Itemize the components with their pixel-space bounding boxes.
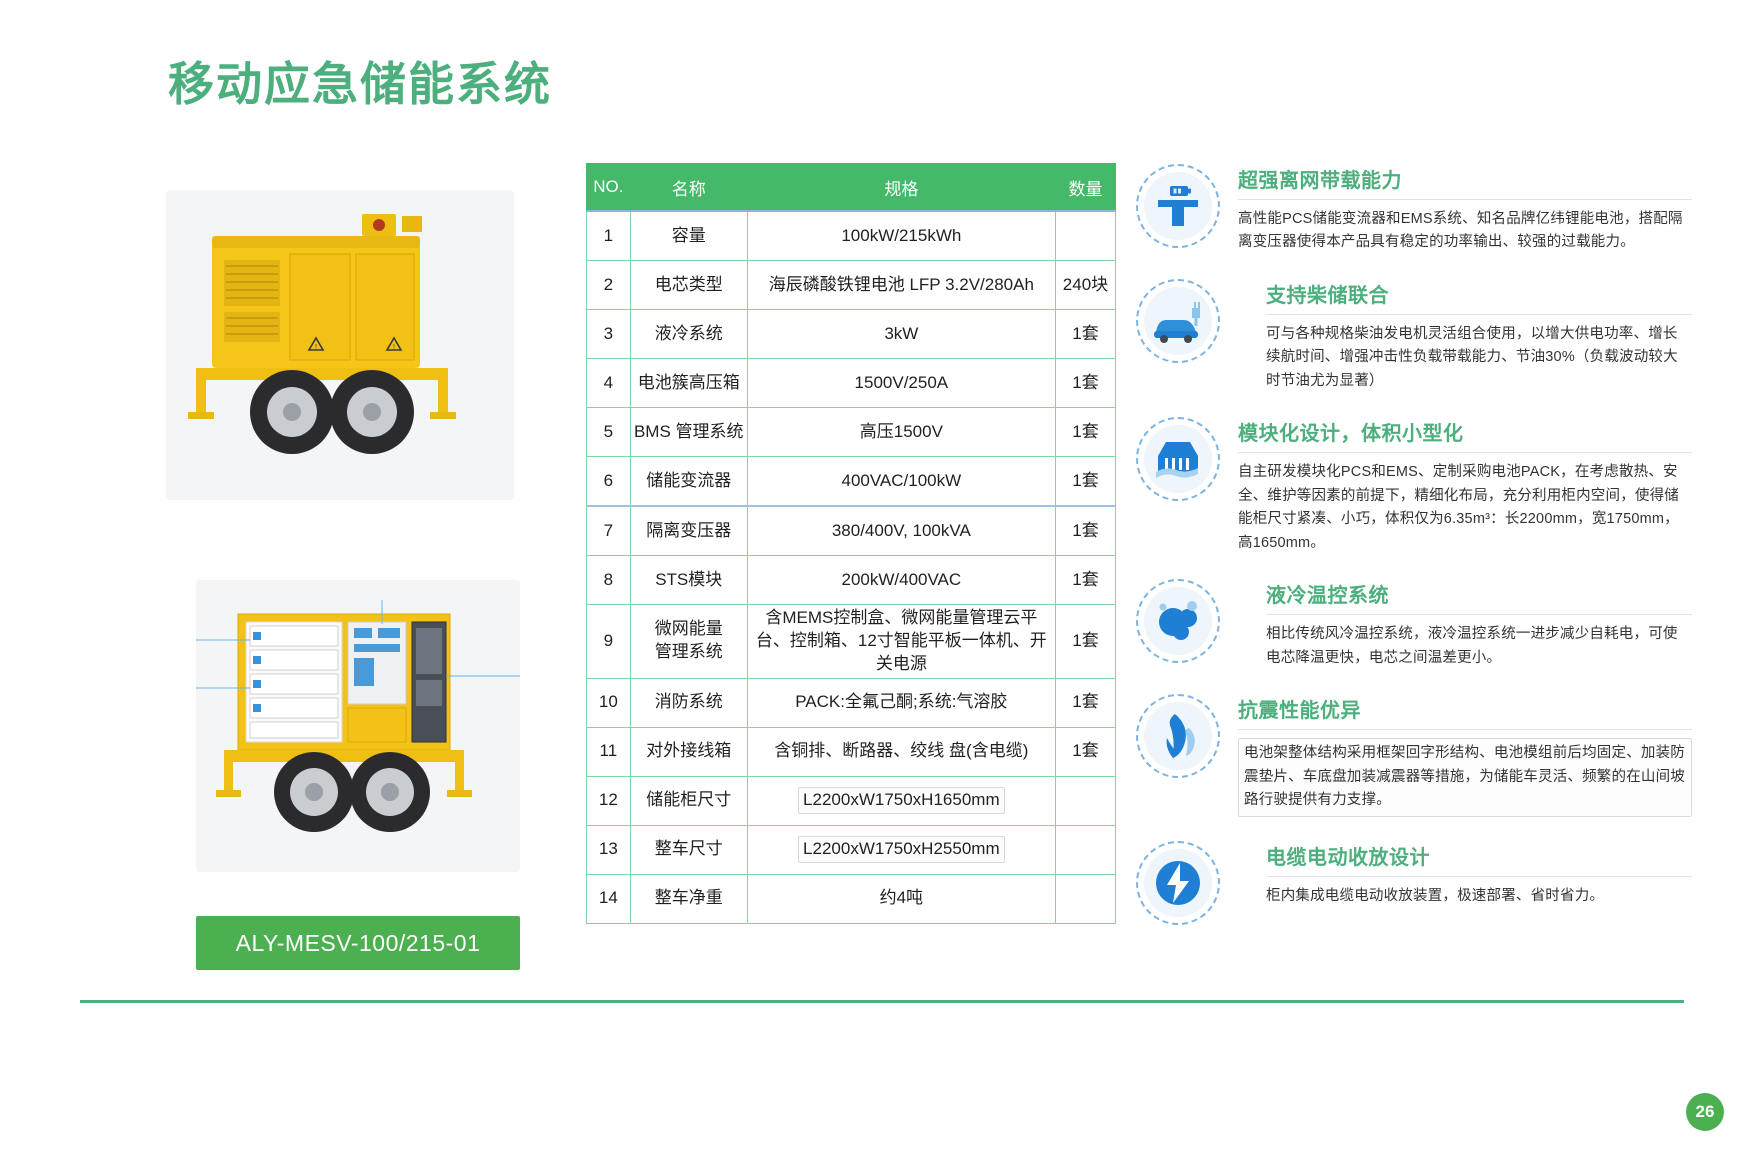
table-header-no: NO.: [587, 164, 631, 212]
feature-title: 超强离网带载能力: [1238, 164, 1692, 193]
table-row: 4电池簇高压箱1500V/250A1套: [587, 359, 1116, 408]
cell-no: 3: [587, 310, 631, 359]
cell-no: 14: [587, 874, 631, 923]
cell-spec: PACK:全氟己酮;系统:气溶胶: [747, 678, 1055, 727]
specification-table: NO. 名称 规格 数量 1容量100kW/215kWh2电芯类型海辰磷酸铁锂电…: [586, 163, 1116, 924]
cell-qty: [1055, 211, 1115, 261]
cell-spec: 高压1500V: [747, 408, 1055, 457]
cell-no: 6: [587, 457, 631, 507]
cell-spec: 含MEMS控制盒、微网能量管理云平台、控制箱、12寸智能平板一体机、开关电源: [747, 605, 1055, 679]
cell-spec: 3kW: [747, 310, 1055, 359]
cell-spec: 约4吨: [747, 874, 1055, 923]
feature-divider: [1266, 876, 1692, 877]
cell-no: 11: [587, 727, 631, 776]
feature-item: 抗震性能优异电池架整体结构采用框架回字形结构、电池模组前后均固定、加装防震垫片、…: [1132, 688, 1692, 816]
table-row: 7隔离变压器380/400V, 100kVA1套: [587, 506, 1116, 556]
model-number-label: ALY-MESV-100/215-01: [196, 916, 520, 970]
cell-no: 8: [587, 556, 631, 605]
cell-name: 整车尺寸: [630, 825, 747, 874]
liquid-cooling-icon: [1132, 575, 1224, 667]
cell-qty: [1055, 776, 1115, 825]
cell-name: 消防系统: [630, 678, 747, 727]
table-row: 6储能变流器400VAC/100kW1套: [587, 457, 1116, 507]
cell-name: BMS 管理系统: [630, 408, 747, 457]
cell-no: 12: [587, 776, 631, 825]
cell-qty: 1套: [1055, 727, 1115, 776]
feature-body: 模块化设计，体积小型化自主研发模块化PCS和EMS、定制采购电池PACK，在考虑…: [1238, 411, 1692, 555]
cell-qty: 1套: [1055, 408, 1115, 457]
table-row: 11对外接线箱含铜排、断路器、绞线 盘(含电缆)1套: [587, 727, 1116, 776]
table-row: 14整车净重约4吨: [587, 874, 1116, 923]
feature-list: 超强离网带载能力高性能PCS储能变流器和EMS系统、知名品牌亿纬锂能电池，搭配隔…: [1132, 158, 1692, 947]
feature-divider: [1238, 199, 1692, 200]
cell-spec-value: L2200xW1750xH2550mm: [798, 836, 1005, 863]
cell-spec: 1500V/250A: [747, 359, 1055, 408]
electric-cable-reel-icon: [1132, 837, 1224, 929]
cell-name: 储能柜尺寸: [630, 776, 747, 825]
table-row: 5BMS 管理系统高压1500V1套: [587, 408, 1116, 457]
cell-name: 储能变流器: [630, 457, 747, 507]
feature-title: 支持柴储联合: [1266, 279, 1692, 308]
cell-spec: 380/400V, 100kVA: [747, 506, 1055, 556]
cell-name: STS模块: [630, 556, 747, 605]
cell-spec: 200kW/400VAC: [747, 556, 1055, 605]
feature-divider: [1238, 452, 1692, 453]
cell-no: 13: [587, 825, 631, 874]
table-row: 1容量100kW/215kWh: [587, 211, 1116, 261]
cell-name: 液冷系统: [630, 310, 747, 359]
cell-spec: 含铜排、断路器、绞线 盘(含电缆): [747, 727, 1055, 776]
feature-title: 模块化设计，体积小型化: [1238, 417, 1692, 446]
svg-text:!: !: [315, 344, 317, 351]
cell-no: 1: [587, 211, 631, 261]
feature-description: 可与各种规格柴油发电机灵活组合使用，以增大供电功率、增长续航时间、增强冲击性负载…: [1266, 323, 1692, 393]
cell-no: 5: [587, 408, 631, 457]
cell-spec: L2200xW1750xH2550mm: [747, 825, 1055, 874]
feature-title: 抗震性能优异: [1238, 694, 1692, 723]
cell-qty: [1055, 825, 1115, 874]
cell-spec: L2200xW1750xH1650mm: [747, 776, 1055, 825]
table-row: 12储能柜尺寸L2200xW1750xH1650mm: [587, 776, 1116, 825]
cell-qty: 1套: [1055, 506, 1115, 556]
feature-title: 液冷温控系统: [1266, 579, 1692, 608]
feature-description: 柜内集成电缆电动收放装置，极速部署、省时省力。: [1266, 885, 1692, 908]
shock-resistant-leaf-icon: [1132, 690, 1224, 782]
table-header-row: NO. 名称 规格 数量: [587, 164, 1116, 212]
cell-no: 9: [587, 605, 631, 679]
table-row: 13整车尺寸L2200xW1750xH2550mm: [587, 825, 1116, 874]
table-row: 3液冷系统3kW1套: [587, 310, 1116, 359]
feature-body: 电缆电动收放设计柜内集成电缆电动收放装置，极速部署、省时省力。: [1238, 835, 1692, 908]
feature-body: 液冷温控系统相比传统风冷温控系统，液冷温控系统一进步减少自耗电，可使电芯降温更快…: [1238, 573, 1692, 670]
feature-item: 模块化设计，体积小型化自主研发模块化PCS和EMS、定制采购电池PACK，在考虑…: [1132, 411, 1692, 555]
table-header-qty: 数量: [1055, 164, 1115, 212]
feature-item: 液冷温控系统相比传统风冷温控系统，液冷温控系统一进步减少自耗电，可使电芯降温更快…: [1132, 573, 1692, 670]
table-header-name: 名称: [630, 164, 747, 212]
table-row: 8STS模块200kW/400VAC1套: [587, 556, 1116, 605]
cell-name: 电芯类型: [630, 261, 747, 310]
svg-text:!: !: [393, 344, 395, 351]
feature-title: 电缆电动收放设计: [1266, 841, 1692, 870]
feature-body: 支持柴储联合可与各种规格柴油发电机灵活组合使用，以增大供电功率、增长续航时间、增…: [1238, 273, 1692, 393]
page-number-badge: 26: [1686, 1093, 1724, 1131]
footer-divider: [80, 1000, 1684, 1003]
feature-divider: [1266, 614, 1692, 615]
cell-qty: 240块: [1055, 261, 1115, 310]
table-row: 10消防系统PACK:全氟己酮;系统:气溶胶1套: [587, 678, 1116, 727]
feature-description: 相比传统风冷温控系统，液冷温控系统一进步减少自耗电，可使电芯降温更快，电芯之间温…: [1266, 623, 1692, 670]
table-row: 9微网能量管理系统含MEMS控制盒、微网能量管理云平台、控制箱、12寸智能平板一…: [587, 605, 1116, 679]
cell-qty: 1套: [1055, 605, 1115, 679]
cell-spec: 海辰磷酸铁锂电池 LFP 3.2V/280Ah: [747, 261, 1055, 310]
cell-qty: 1套: [1055, 359, 1115, 408]
cell-name: 对外接线箱: [630, 727, 747, 776]
feature-item: 支持柴储联合可与各种规格柴油发电机灵活组合使用，以增大供电功率、增长续航时间、增…: [1132, 273, 1692, 393]
cell-name: 微网能量管理系统: [630, 605, 747, 679]
feature-description: 自主研发模块化PCS和EMS、定制采购电池PACK，在考虑散热、安全、维护等因素…: [1238, 461, 1692, 555]
product-photo-exterior: ! !: [166, 190, 514, 500]
product-photo-interior: [196, 580, 520, 872]
feature-item: 超强离网带载能力高性能PCS储能变流器和EMS系统、知名品牌亿纬锂能电池，搭配隔…: [1132, 158, 1692, 255]
cell-spec-value: L2200xW1750xH1650mm: [798, 787, 1005, 814]
slide-root: 移动应急储能系统: [0, 0, 1764, 1172]
page-title: 移动应急储能系统: [168, 48, 552, 114]
cell-qty: 1套: [1055, 556, 1115, 605]
cell-name: 整车净重: [630, 874, 747, 923]
cell-no: 2: [587, 261, 631, 310]
cell-qty: 1套: [1055, 678, 1115, 727]
off-grid-battery-icon: [1132, 160, 1224, 252]
feature-item: 电缆电动收放设计柜内集成电缆电动收放装置，极速部署、省时省力。: [1132, 835, 1692, 929]
cell-no: 10: [587, 678, 631, 727]
cell-name: 电池簇高压箱: [630, 359, 747, 408]
cell-no: 7: [587, 506, 631, 556]
feature-divider: [1238, 729, 1692, 730]
cell-no: 4: [587, 359, 631, 408]
cell-qty: [1055, 874, 1115, 923]
cell-spec: 400VAC/100kW: [747, 457, 1055, 507]
modular-design-icon: [1132, 413, 1224, 505]
feature-divider: [1266, 314, 1692, 315]
feature-description: 高性能PCS储能变流器和EMS系统、知名品牌亿纬锂能电池，搭配隔离变压器使得本产…: [1238, 208, 1692, 255]
cell-qty: 1套: [1055, 457, 1115, 507]
table-row: 2电芯类型海辰磷酸铁锂电池 LFP 3.2V/280Ah240块: [587, 261, 1116, 310]
feature-body: 超强离网带载能力高性能PCS储能变流器和EMS系统、知名品牌亿纬锂能电池，搭配隔…: [1238, 158, 1692, 255]
cell-name: 隔离变压器: [630, 506, 747, 556]
cell-name: 容量: [630, 211, 747, 261]
cell-spec: 100kW/215kWh: [747, 211, 1055, 261]
cell-qty: 1套: [1055, 310, 1115, 359]
feature-description: 电池架整体结构采用框架回字形结构、电池模组前后均固定、加装防震垫片、车底盘加装减…: [1238, 738, 1692, 816]
feature-body: 抗震性能优异电池架整体结构采用框架回字形结构、电池模组前后均固定、加装防震垫片、…: [1238, 688, 1692, 816]
diesel-hybrid-car-icon: [1132, 275, 1224, 367]
table-header-spec: 规格: [747, 164, 1055, 212]
